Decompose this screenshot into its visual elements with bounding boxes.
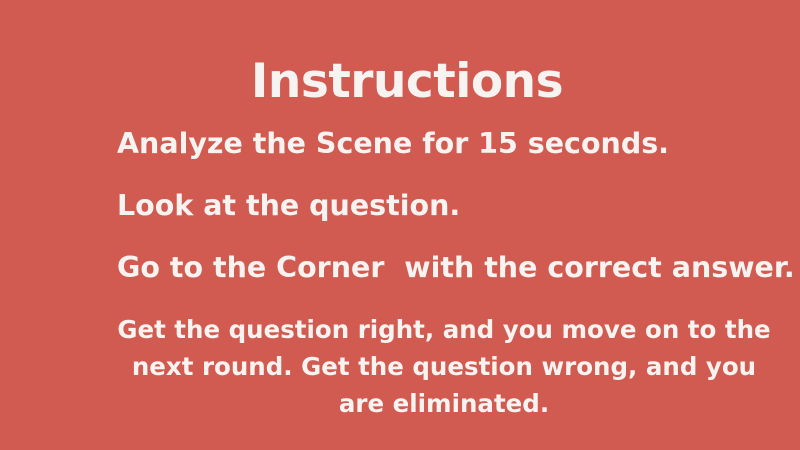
- instruction-step-analyze: Analyze the Scene for 15 seconds.: [117, 113, 777, 175]
- instruction-list: Analyze the Scene for 15 seconds. Look a…: [117, 113, 777, 299]
- instructions-slide: Instructions Analyze the Scene for 15 se…: [0, 0, 800, 450]
- instruction-step-go-to-corner: Go to the Corner with the correct answer…: [117, 237, 777, 299]
- page-title: Instructions: [0, 53, 800, 111]
- instruction-step-look: Look at the question.: [117, 175, 777, 237]
- outcome-rules-text: Get the question right, and you move on …: [114, 311, 774, 422]
